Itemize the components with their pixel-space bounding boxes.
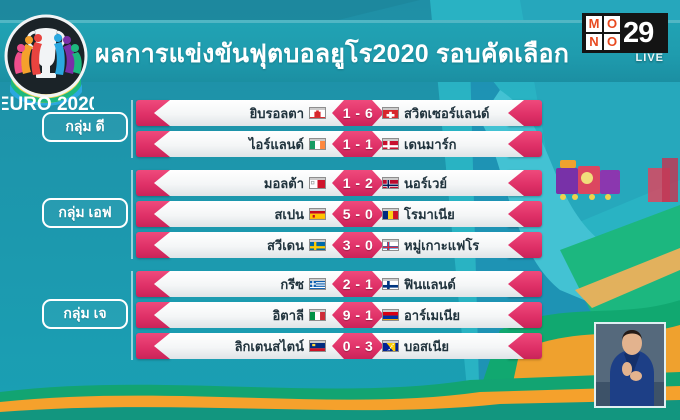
group-divider [131, 100, 133, 158]
group-block: กลุ่ม ดียิบรอลตา1 - 6สวิตเซอร์แลนด์ไอร์แ… [0, 100, 680, 162]
flag-spain-icon [309, 208, 326, 220]
away-team: อาร์เมเนีย [382, 302, 518, 328]
home-team: สเปน [154, 201, 330, 227]
match-row[interactable]: ไอร์แลนด์1 - 1เดนมาร์ก [136, 131, 542, 157]
flag-switzerland-icon [382, 107, 399, 119]
away-team: ฟินแลนด์ [382, 271, 518, 297]
mono-letter-n: N [586, 34, 602, 50]
sign-language-interpreter [594, 322, 666, 408]
match-row[interactable]: อิตาลี9 - 1อาร์เมเนีย [136, 302, 542, 328]
home-team-name: มอลต้า [264, 173, 304, 194]
match-row[interactable]: กรีซ2 - 1ฟินแลนด์ [136, 271, 542, 297]
euro-2020-logo: EURO 2020 [2, 12, 94, 112]
home-team: มอลต้า [154, 170, 330, 196]
mono-letter-o1: O [604, 16, 620, 32]
euro-logo-text: EURO 2020 [2, 94, 94, 112]
match-row[interactable]: สวีเดน3 - 0หมู่เกาะแฟโร [136, 232, 542, 258]
flag-liechtenstein-icon [309, 340, 326, 352]
home-team: สวีเดน [154, 232, 330, 258]
home-team-name: สเปน [274, 204, 304, 225]
away-team: นอร์เวย์ [382, 170, 518, 196]
group-label-1: กลุ่ม ดี [42, 112, 128, 142]
flag-norway-icon [382, 177, 399, 189]
flag-armenia-icon [382, 309, 399, 321]
mono29-channel-logo: M O N O 29 [582, 13, 668, 53]
home-team: ยิบรอลตา [154, 100, 330, 126]
group-block: กลุ่ม เอฟมอลต้า1 - 2นอร์เวย์สเปน5 - 0โรม… [0, 170, 680, 263]
home-team: กรีซ [154, 271, 330, 297]
results-list: กลุ่ม ดียิบรอลตา1 - 6สวิตเซอร์แลนด์ไอร์แ… [0, 100, 680, 372]
group-label-2: กลุ่ม เอฟ [42, 198, 128, 228]
flag-malta-icon [309, 177, 326, 189]
flag-romania-icon [382, 208, 399, 220]
away-team-name: นอร์เวย์ [404, 173, 447, 194]
group-block: กลุ่ม เจกรีซ2 - 1ฟินแลนด์อิตาลี9 - 1อาร์… [0, 271, 680, 364]
group-label-3: กลุ่ม เจ [42, 299, 128, 329]
home-team-name: สวีเดน [267, 235, 304, 256]
away-team-name: ฟินแลนด์ [404, 274, 456, 295]
flag-ireland-icon [309, 138, 326, 150]
away-team-name: เดนมาร์ก [404, 134, 457, 155]
home-team-name: ไอร์แลนด์ [249, 134, 304, 155]
away-team-name: หมู่เกาะแฟโร [404, 235, 479, 256]
mono-row-2: N O [586, 34, 620, 50]
away-team: สวิตเซอร์แลนด์ [382, 100, 518, 126]
flag-sweden-icon [309, 239, 326, 251]
mono-letter-grid: M O N O [586, 16, 620, 50]
banner-highlight-line [0, 20, 680, 23]
channel-number: 29 [623, 16, 653, 50]
mono-row-1: M O [586, 16, 620, 32]
away-team: โรมาเนีย [382, 201, 518, 227]
match-row[interactable]: สเปน5 - 0โรมาเนีย [136, 201, 542, 227]
away-team: หมู่เกาะแฟโร [382, 232, 518, 258]
live-badge: LIVE [636, 52, 664, 64]
mono-letter-m: M [586, 16, 602, 32]
flag-gibraltar-icon [309, 107, 326, 119]
flag-denmark-icon [382, 138, 399, 150]
away-team-name: สวิตเซอร์แลนด์ [404, 103, 489, 124]
away-team-name: อาร์เมเนีย [404, 305, 460, 326]
match-row[interactable]: ลิกเตนสไตน์0 - 3บอสเนีย [136, 333, 542, 359]
flag-finland-icon [382, 278, 399, 290]
group-divider [131, 271, 133, 360]
group-divider [131, 170, 133, 259]
home-team-name: ยิบรอลตา [250, 103, 304, 124]
home-team-name: กรีซ [280, 274, 304, 295]
page-title: ผลการแข่งขันฟุตบอลยูโร2020 รอบคัดเลือก [95, 32, 615, 76]
match-row[interactable]: มอลต้า1 - 2นอร์เวย์ [136, 170, 542, 196]
flag-faroe-islands-icon [382, 239, 399, 251]
match-row[interactable]: ยิบรอลตา1 - 6สวิตเซอร์แลนด์ [136, 100, 542, 126]
mono-letter-o2: O [604, 34, 620, 50]
flag-greece-icon [309, 278, 326, 290]
away-team-name: โรมาเนีย [404, 204, 455, 225]
home-team: อิตาลี [154, 302, 330, 328]
flag-italy-icon [309, 309, 326, 321]
home-team: ไอร์แลนด์ [154, 131, 330, 157]
away-team-name: บอสเนีย [404, 336, 449, 357]
home-team-name: ลิกเตนสไตน์ [235, 336, 304, 357]
flag-bosnia-icon [382, 340, 399, 352]
away-team: เดนมาร์ก [382, 131, 518, 157]
home-team: ลิกเตนสไตน์ [154, 333, 330, 359]
away-team: บอสเนีย [382, 333, 518, 359]
home-team-name: อิตาลี [272, 305, 304, 326]
